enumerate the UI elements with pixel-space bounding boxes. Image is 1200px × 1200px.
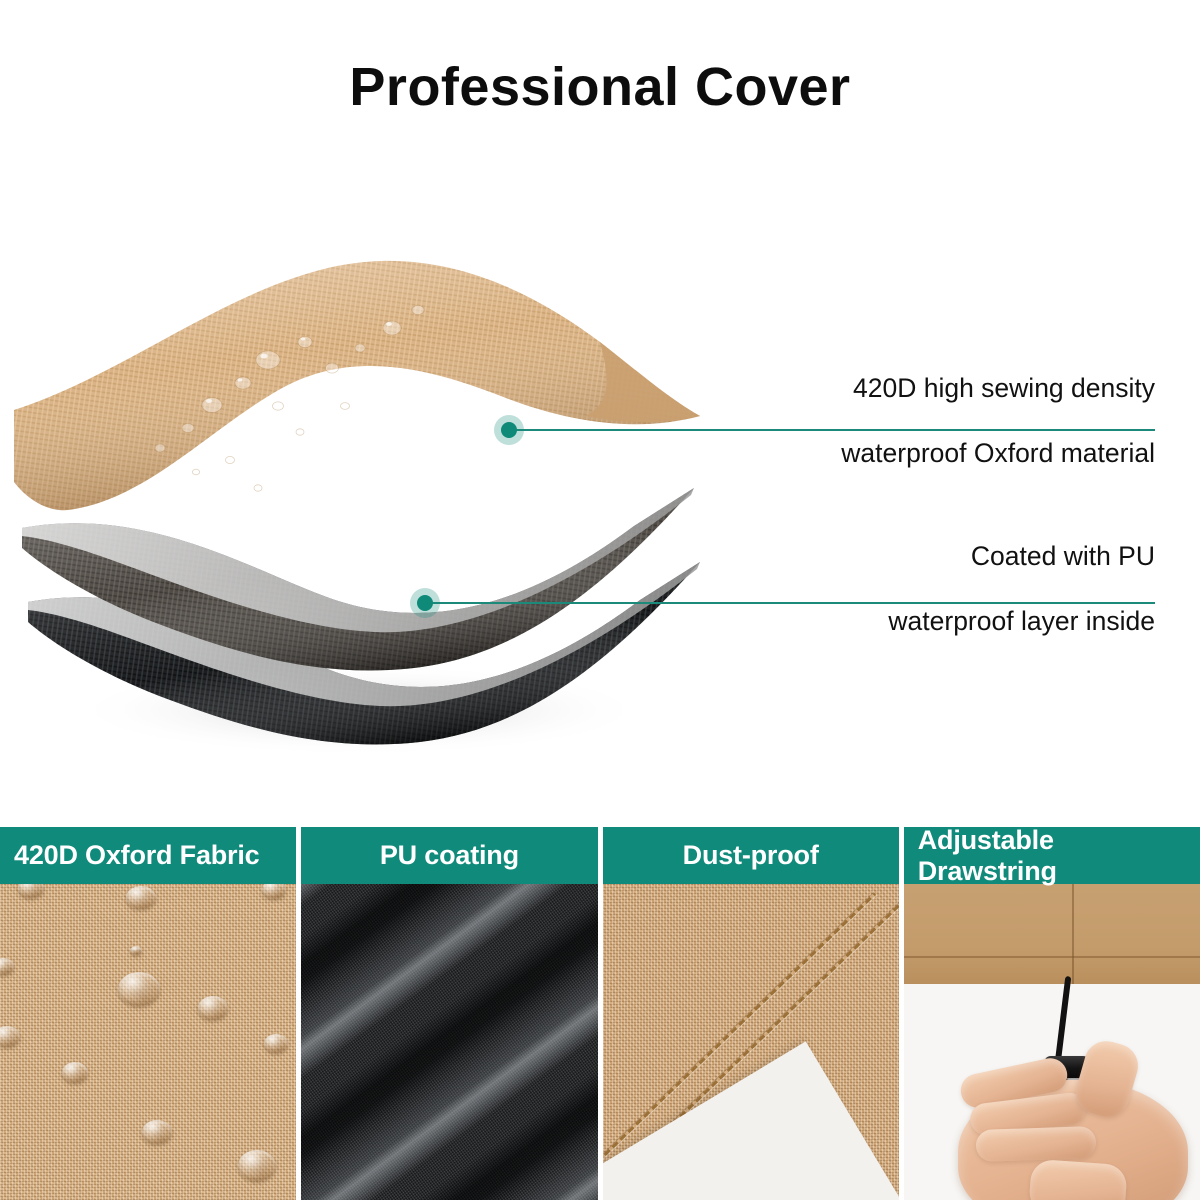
panel-dust-proof-label: Dust-proof — [603, 827, 899, 884]
cover-hem — [904, 884, 1200, 984]
callout-text-oxford: 420D high sewing density waterproof Oxfo… — [640, 340, 1155, 502]
second-hand-finger — [1028, 1159, 1128, 1200]
panel-adjustable-drawstring[interactable]: Adjustable Drawstring — [904, 827, 1200, 1200]
panel-adjustable-drawstring-label: Adjustable Drawstring — [904, 827, 1200, 884]
panel-pu-coating[interactable]: PU coating — [301, 827, 597, 1200]
panel-adjustable-drawstring-image — [904, 884, 1200, 1200]
callout-pu-line-2: waterproof layer inside — [640, 605, 1155, 637]
callout-text-pu: Coated with PU waterproof layer inside — [640, 508, 1155, 670]
panel-pu-coating-image — [301, 884, 597, 1200]
callout-anchor-dot-oxford — [494, 415, 524, 445]
callout-anchor-dot-pu — [410, 588, 440, 618]
finger-3 — [975, 1126, 1096, 1162]
panel-oxford-fabric-label: 420D Oxford Fabric — [0, 827, 296, 884]
page-title: Professional Cover — [0, 60, 1200, 114]
callout-pu-line-1: Coated with PU — [640, 540, 1155, 572]
panel-oxford-fabric[interactable]: 420D Oxford Fabric — [0, 827, 296, 1200]
callout-oxford-line-2: waterproof Oxford material — [640, 437, 1155, 469]
panel-oxford-fabric-image — [0, 884, 296, 1200]
panel-dust-proof[interactable]: Dust-proof — [603, 827, 899, 1200]
feature-panel-row: 420D Oxford Fabric PU coating Dust-proof — [0, 827, 1200, 1200]
callout-oxford-line-1: 420D high sewing density — [640, 372, 1155, 404]
panel-dust-proof-image — [603, 884, 899, 1200]
top-tan-layer — [14, 261, 700, 510]
panel-pu-coating-label: PU coating — [301, 827, 597, 884]
